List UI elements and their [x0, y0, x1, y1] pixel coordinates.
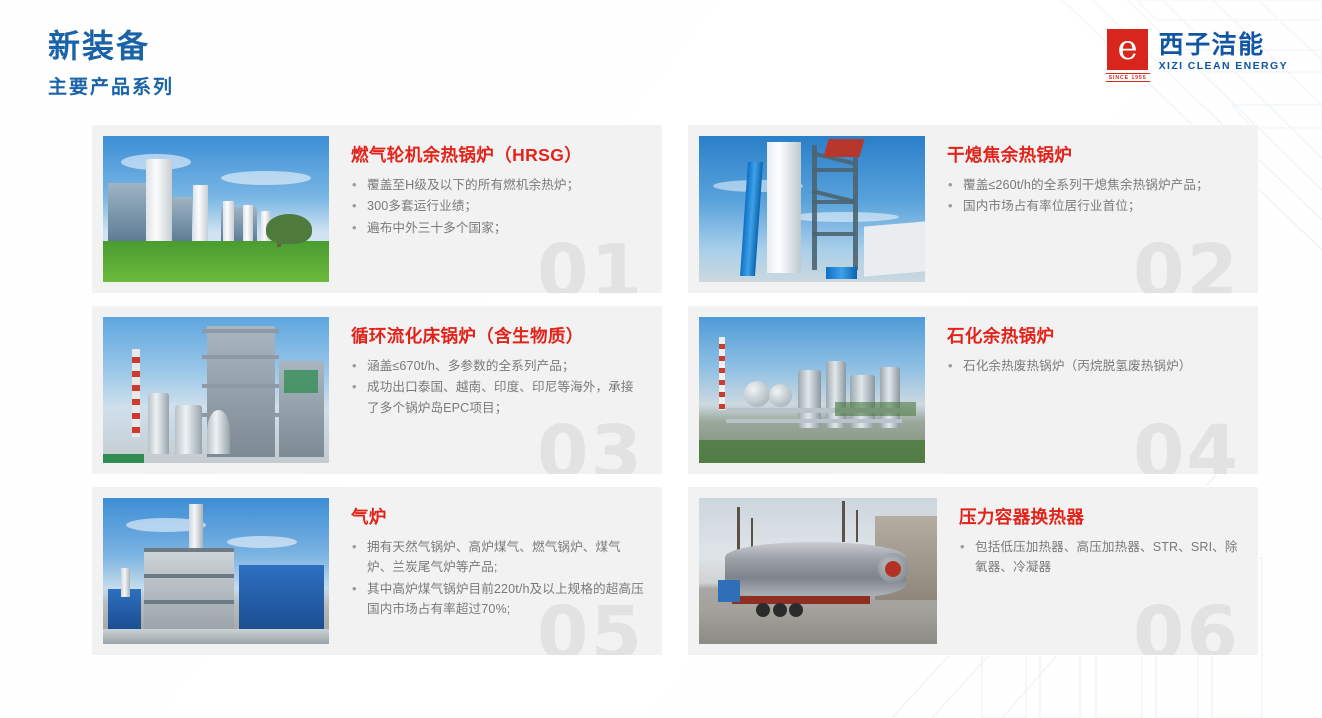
logo-name-cn: 西子洁能 — [1159, 32, 1288, 58]
card-body-06: 压力容器换热器 包括低压加热器、高压加热器、STR、SRI、除氧器、冷凝器 — [937, 487, 1258, 655]
card-bullets-01: 覆盖至H级及以下的所有燃机余热炉； 300多套运行业绩； 遍布中外三十多个国家； — [351, 175, 644, 238]
list-item: 石化余热废热锅炉（丙烷脱氢废热锅炉） — [947, 356, 1240, 376]
product-image-05 — [103, 498, 329, 644]
list-item: 300多套运行业绩； — [351, 196, 644, 216]
card-bullets-04: 石化余热废热锅炉（丙烷脱氢废热锅炉） — [947, 356, 1240, 376]
card-body-02: 干熄焦余热锅炉 覆盖≤260t/h的全系列干熄焦余热锅炉产品； 国内市场占有率位… — [925, 125, 1258, 293]
card-body-04: 石化余热锅炉 石化余热废热锅炉（丙烷脱氢废热锅炉） — [925, 306, 1258, 474]
card-title-01: 燃气轮机余热锅炉（HRSG） — [351, 145, 644, 166]
card-title-02: 干熄焦余热锅炉 — [947, 145, 1240, 166]
card-title-05: 气炉 — [351, 507, 644, 528]
product-card-grid: 01 燃气轮机余热锅炉（HRSG） — [92, 125, 1258, 655]
card-title-06: 压力容器换热器 — [959, 507, 1240, 528]
list-item: 涵盖≤670t/h、多参数的全系列产品； — [351, 356, 644, 376]
list-item: 遍布中外三十多个国家； — [351, 218, 644, 238]
card-title-03: 循环流化床锅炉（含生物质） — [351, 326, 644, 347]
slide-header: 新装备 主要产品系列 e SINCE 1955 西子洁能 XIZI CLEAN … — [0, 0, 1322, 118]
logo-mark: e SINCE 1955 — [1106, 29, 1150, 82]
product-card-06[interactable]: 06 — [688, 487, 1258, 655]
product-card-02[interactable]: 02 — [688, 125, 1258, 293]
slide-canvas: 新装备 主要产品系列 e SINCE 1955 西子洁能 XIZI CLEAN … — [0, 0, 1322, 718]
list-item: 其中高炉煤气锅炉目前220t/h及以上规格的超高压国内市场占有率超过70%; — [351, 579, 644, 620]
product-card-03[interactable]: 03 循环流化床锅炉（含生物质） — [92, 306, 662, 474]
logo-letter: e — [1118, 31, 1138, 65]
list-item: 覆盖至H级及以下的所有燃机余热炉； — [351, 175, 644, 195]
product-image-03 — [103, 317, 329, 463]
list-item: 成功出口泰国、越南、印度、印尼等海外，承接了多个锅炉岛EPC项目； — [351, 377, 644, 418]
title-block: 新装备 主要产品系列 — [48, 30, 174, 99]
logo-name-en: XIZI CLEAN ENERGY — [1159, 60, 1288, 72]
brand-logo: e SINCE 1955 西子洁能 XIZI CLEAN ENERGY — [1106, 29, 1288, 82]
list-item: 包括低压加热器、高压加热器、STR、SRI、除氧器、冷凝器 — [959, 537, 1240, 578]
card-bullets-06: 包括低压加热器、高压加热器、STR、SRI、除氧器、冷凝器 — [959, 537, 1240, 578]
product-image-02 — [699, 136, 925, 282]
logo-e-badge-icon: e — [1107, 29, 1148, 70]
card-body-03: 循环流化床锅炉（含生物质） 涵盖≤670t/h、多参数的全系列产品； 成功出口泰… — [329, 306, 662, 474]
page-subtitle: 主要产品系列 — [48, 72, 174, 99]
page-title: 新装备 — [48, 30, 174, 64]
list-item: 拥有天然气锅炉、高炉煤气、燃气锅炉、煤气炉、兰炭尾气炉等产品; — [351, 537, 644, 578]
list-item: 覆盖≤260t/h的全系列干熄焦余热锅炉产品； — [947, 175, 1240, 195]
card-bullets-03: 涵盖≤670t/h、多参数的全系列产品； 成功出口泰国、越南、印度、印尼等海外，… — [351, 356, 644, 418]
product-image-01 — [103, 136, 329, 282]
logo-wordmark: 西子洁能 XIZI CLEAN ENERGY — [1159, 29, 1288, 72]
product-card-01[interactable]: 01 燃气轮机余热锅炉（HRSG） — [92, 125, 662, 293]
logo-since-text: SINCE 1955 — [1106, 73, 1150, 82]
product-card-04[interactable]: 04 石化余热锅炉 石化余 — [688, 306, 1258, 474]
card-body-05: 气炉 拥有天然气锅炉、高炉煤气、燃气锅炉、煤气炉、兰炭尾气炉等产品; 其中高炉煤… — [329, 487, 662, 655]
card-title-04: 石化余热锅炉 — [947, 326, 1240, 347]
product-card-05[interactable]: 05 气炉 拥有天然气锅炉 — [92, 487, 662, 655]
card-bullets-05: 拥有天然气锅炉、高炉煤气、燃气锅炉、煤气炉、兰炭尾气炉等产品; 其中高炉煤气锅炉… — [351, 537, 644, 620]
product-image-04 — [699, 317, 925, 463]
card-body-01: 燃气轮机余热锅炉（HRSG） 覆盖至H级及以下的所有燃机余热炉； 300多套运行… — [329, 125, 662, 293]
card-bullets-02: 覆盖≤260t/h的全系列干熄焦余热锅炉产品； 国内市场占有率位居行业首位； — [947, 175, 1240, 217]
product-image-06 — [699, 498, 937, 644]
list-item: 国内市场占有率位居行业首位； — [947, 196, 1240, 216]
